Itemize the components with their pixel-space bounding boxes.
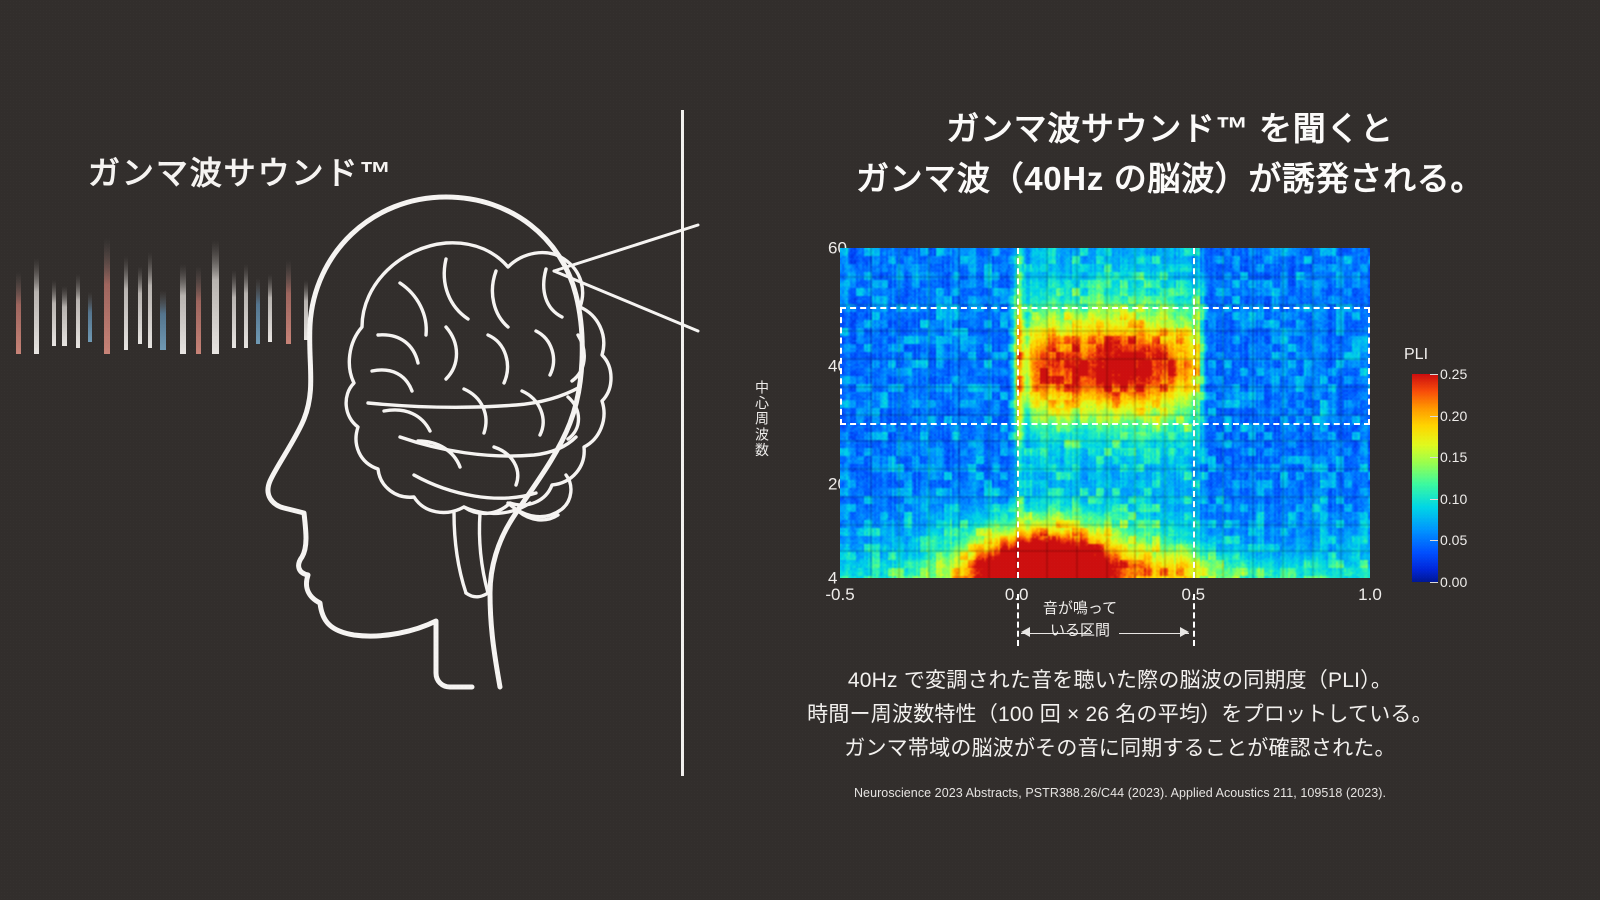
dashed-vline-sound-end	[1193, 248, 1195, 578]
colorbar-tick-0.10: 0.10	[1440, 492, 1467, 506]
brain-callout-lines	[500, 195, 710, 355]
gamma-band-highlight-box	[840, 307, 1370, 425]
colorbar-title: PLI	[1404, 346, 1428, 364]
colorbar-tick-0.15: 0.15	[1440, 450, 1467, 464]
colorbar: PLI 0.250.200.150.100.050.00	[1402, 250, 1562, 590]
colorbar-tick-0.05: 0.05	[1440, 533, 1467, 547]
colorbar-tick-dash-0.00	[1430, 582, 1438, 583]
colorbar-tick-dash-0.10	[1430, 499, 1438, 500]
colorbar-tick-0.25: 0.25	[1440, 367, 1467, 381]
interval-tick-sound-end	[1193, 594, 1195, 646]
colorbar-tick-0.00: 0.00	[1440, 575, 1467, 589]
caption-line-3: ガンマ帯域の脳波がその音に同期することが確認された。	[740, 732, 1500, 766]
pli-heatmap-chart: 中心周波数 6040204 -0.50.00.51.0 音が鳴って いる区間 P…	[760, 232, 1580, 632]
page-title: ガンマ波サウンド™ を聞くと ガンマ波（40Hz の脳波）が誘発される。	[760, 104, 1580, 203]
colorbar-tick-dash-0.20	[1430, 416, 1438, 417]
colorbar-tick-dash-0.15	[1430, 457, 1438, 458]
dashed-vline-sound-start	[1017, 248, 1019, 578]
title-line-2: ガンマ波（40Hz の脳波）が誘発される。	[760, 154, 1580, 204]
interval-arrow-right-head	[1180, 627, 1189, 637]
caption-line-2: 時間ー周波数特性（100 回 × 26 名の平均）をプロットしている。	[740, 698, 1500, 732]
y-axis-label: 中心周波数	[752, 380, 772, 458]
caption-line-1: 40Hz で変調された音を聴いた際の脳波の同期度（PLI）。	[740, 664, 1500, 698]
colorbar-tick-dash-0.05	[1430, 540, 1438, 541]
title-line-1: ガンマ波サウンド™ を聞くと	[760, 104, 1580, 154]
colorbar-tick-0.20: 0.20	[1440, 409, 1467, 423]
sound-interval-label: 音が鳴って いる区間	[1010, 598, 1150, 642]
colorbar-gradient	[1412, 374, 1438, 582]
chart-caption: 40Hz で変調された音を聴いた際の脳波の同期度（PLI）。 時間ー周波数特性（…	[740, 664, 1500, 766]
colorbar-tick-dash-0.25	[1430, 374, 1438, 375]
interval-label-line-2: いる区間	[1010, 620, 1150, 642]
citation-text: Neuroscience 2023 Abstracts, PSTR388.26/…	[740, 786, 1500, 800]
interval-label-line-1: 音が鳴って	[1010, 598, 1150, 620]
